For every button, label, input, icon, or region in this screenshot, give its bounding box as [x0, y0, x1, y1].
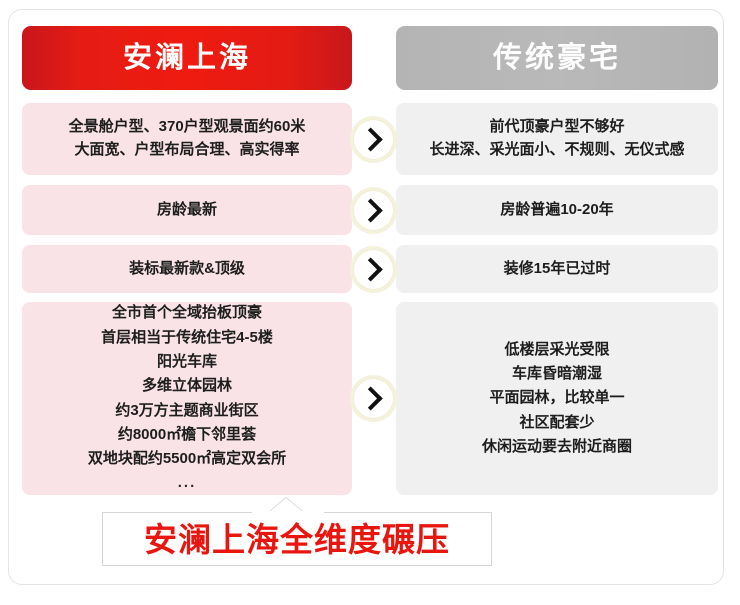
- comparison-row: 全景舱户型、370户型观景面约60米 大面宽、户型布局合理、高实得率 前代顶豪户…: [0, 103, 740, 175]
- chevron-glyph: [359, 386, 383, 410]
- chevron-glyph: [359, 198, 383, 222]
- row-1-right-panel: 前代顶豪户型不够好 长进深、采光面小、不规则、无仪式感: [396, 103, 718, 175]
- row-4-left-line: 阳光车库: [157, 350, 217, 374]
- header-left-anlan-shanghai: 安澜上海: [22, 26, 352, 90]
- summary-banner: 安澜上海全维度碾压: [102, 512, 492, 566]
- comparison-row: 全市首个全域抬板顶豪 首层相当于传统住宅4-5楼 阳光车库 多维立体园林 约3万…: [0, 302, 740, 495]
- row-4-left-line: 多维立体园林: [142, 374, 232, 398]
- banner-notch-cover: [252, 511, 324, 514]
- row-4-left-line: 首层相当于传统住宅4-5楼: [101, 326, 273, 350]
- header-left-label: 安澜上海: [123, 44, 251, 73]
- row-1-left-line: 全景舱户型、370户型观景面约60米: [69, 116, 306, 139]
- row-1-right-line: 前代顶豪户型不够好: [489, 116, 624, 139]
- comparison-row: 房龄最新 房龄普遍10-20年: [0, 185, 740, 235]
- header-right-label: 传统豪宅: [493, 44, 621, 73]
- row-4-left-line: 约3万方主题商业街区: [115, 399, 258, 423]
- chevron-right-icon: [350, 246, 397, 293]
- chevron-right-icon: [350, 187, 397, 234]
- row-2-right-line: 房龄普遍10-20年: [500, 199, 613, 222]
- row-4-right-line: 休闲运动要去附近商圈: [482, 435, 632, 459]
- chevron-glyph: [359, 127, 383, 151]
- row-1-left-line: 大面宽、户型布局合理、高实得率: [74, 139, 299, 162]
- banner-box: 安澜上海全维度碾压: [102, 512, 492, 566]
- comparison-row: 装标最新款&顶级 装修15年已过时: [0, 245, 740, 293]
- row-4-left-line: 约8000㎡檐下邻里荟: [118, 423, 256, 447]
- row-4-right-panel: 低楼层采光受限 车库昏暗潮湿 平面园林，比较单一 社区配套少 休闲运动要去附近商…: [396, 302, 718, 495]
- row-3-left-panel: 装标最新款&顶级: [22, 245, 352, 293]
- row-4-left-line: 双地块配约5500㎡高定双会所: [88, 447, 286, 471]
- row-2-right-panel: 房龄普遍10-20年: [396, 185, 718, 235]
- row-4-right-line: 车库昏暗潮湿: [512, 362, 602, 386]
- row-4-right-line: 低楼层采光受限: [504, 338, 609, 362]
- row-4-right-line: 平面园林，比较单一: [489, 386, 624, 410]
- comparison-infographic: 安澜上海 传统豪宅 全景舱户型、370户型观景面约60米 大面宽、户型布局合理、…: [0, 0, 740, 605]
- row-3-right-line: 装修15年已过时: [504, 258, 611, 281]
- chevron-glyph: [359, 257, 383, 281]
- row-1-right-line: 长进深、采光面小、不规则、无仪式感: [429, 139, 684, 162]
- row-2-left-line: 房龄最新: [157, 199, 217, 222]
- row-3-left-line: 装标最新款&顶级: [129, 258, 245, 281]
- row-4-left-line: 全市首个全域抬板顶豪: [112, 301, 262, 325]
- row-4-left-panel: 全市首个全域抬板顶豪 首层相当于传统住宅4-5楼 阳光车库 多维立体园林 约3万…: [22, 302, 352, 495]
- header-right-traditional-mansion: 传统豪宅: [396, 26, 718, 90]
- row-1-left-panel: 全景舱户型、370户型观景面约60米 大面宽、户型布局合理、高实得率: [22, 103, 352, 175]
- row-3-right-panel: 装修15年已过时: [396, 245, 718, 293]
- row-4-right-line: 社区配套少: [519, 411, 594, 435]
- chevron-right-icon: [350, 116, 397, 163]
- row-2-left-panel: 房龄最新: [22, 185, 352, 235]
- comparison-card: [8, 9, 724, 585]
- chevron-right-icon: [350, 375, 397, 422]
- row-4-left-line-ellipsis: ...: [178, 471, 197, 495]
- banner-label: 安澜上海全维度碾压: [144, 523, 450, 556]
